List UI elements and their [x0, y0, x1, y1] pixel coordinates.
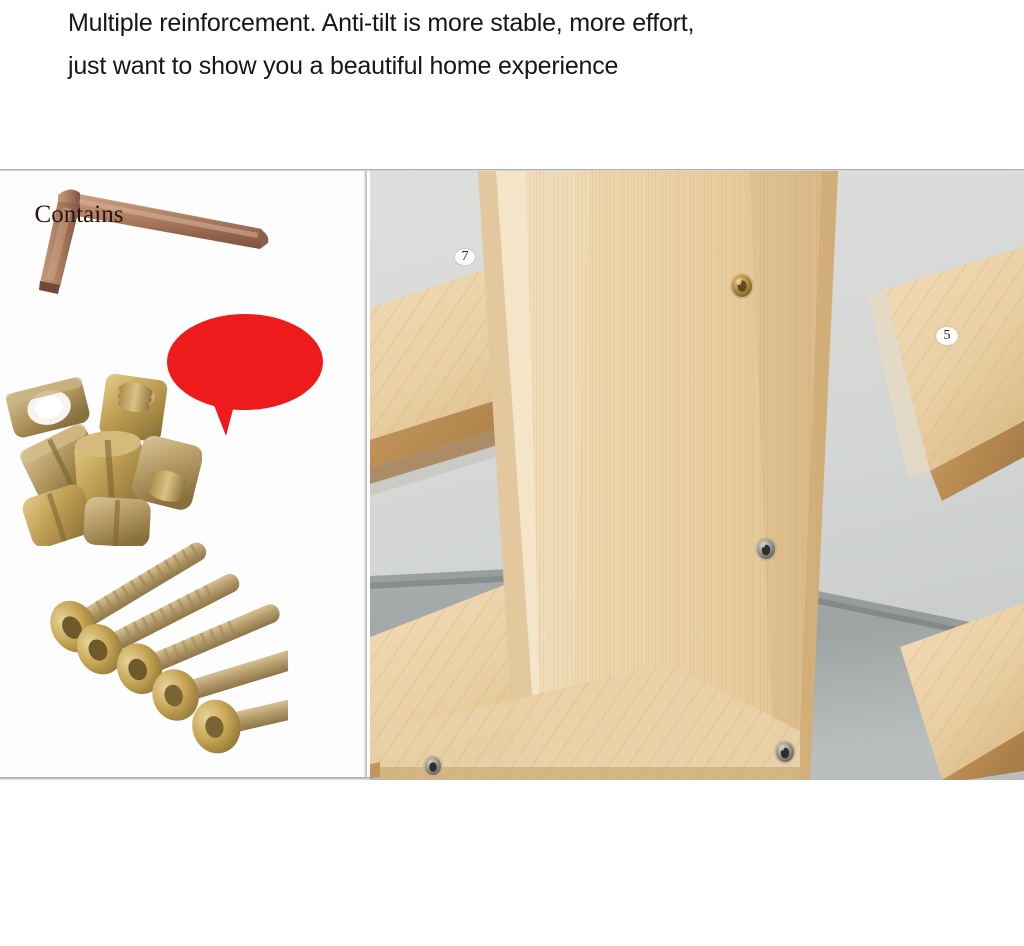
headline-line-2: just want to show you a beautiful home e… — [68, 45, 968, 88]
cam-screw-bottom-left — [423, 755, 443, 777]
sticker-value: 5 — [944, 329, 951, 343]
product-figure: Contains — [0, 169, 1024, 781]
allen-key-icon — [20, 179, 280, 309]
shelf-sticker-5: 5 — [936, 327, 958, 345]
cam-screw-middle — [755, 537, 777, 561]
contains-callout-bubble — [166, 312, 324, 442]
headline-line-1: Multiple reinforcement. Anti-tilt is mor… — [68, 2, 968, 45]
sticker-value: 7 — [462, 250, 469, 264]
shelf-sticker-7: 7 — [455, 249, 475, 265]
page-title: Multiple reinforcement. Anti-tilt is mor… — [68, 2, 968, 88]
hardware-kit-photo: Contains — [0, 171, 367, 777]
cam-screw-lower — [774, 740, 796, 764]
panel-divider — [364, 171, 367, 777]
cam-screw-top — [730, 273, 754, 299]
assembled-shelf-photo: 7 5 — [370, 171, 1024, 780]
hex-socket-bolts-icon — [18, 506, 288, 771]
